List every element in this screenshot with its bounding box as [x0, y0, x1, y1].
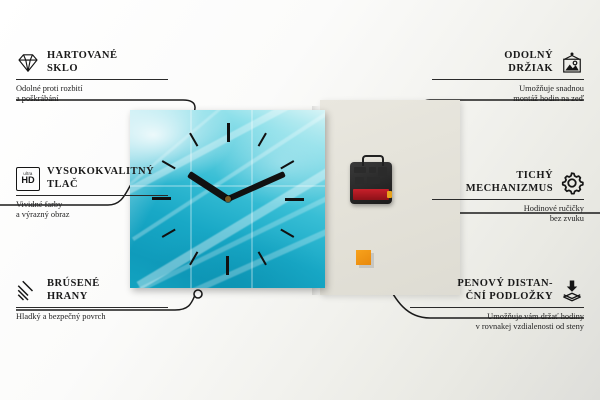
feature-silent-mechanism: TICHÝ MECHANIZMUS Hodinové ručičky bez z…: [432, 170, 584, 225]
clock-tick: [227, 123, 229, 199]
feature-foam-spacers: PENOVÝ DISTAN- ČNÍ PODLOŽKY Umožňuje vám…: [410, 278, 584, 333]
clock-tick: [227, 199, 229, 275]
mechanism-detail: [354, 167, 366, 173]
feature-description: Umožňuje vám držať hodiny v rovnakej vzd…: [410, 312, 584, 333]
foam-spacer-icon: [560, 279, 584, 303]
mechanism-hanger: [362, 155, 384, 166]
mechanism-detail: [369, 167, 376, 173]
ultra-hd-icon: ultra HD: [16, 167, 40, 191]
ultra-hd-icon-hd: HD: [21, 176, 34, 185]
feature-description: Hodinové ručičky bez zvuku: [432, 204, 584, 225]
feature-title: PENOVÝ DISTAN- ČNÍ PODLOŽKY: [457, 278, 553, 303]
diamond-icon: [16, 51, 40, 75]
feature-title: HARTOVANÉ SKLO: [47, 50, 117, 75]
feature-divider: [410, 307, 584, 308]
clock-center-pin: [225, 196, 231, 202]
feature-title: VYSOKOKVALITNÝ TLAČ: [47, 166, 154, 191]
infographic-canvas: HARTOVANÉ SKLO Odolné proti rozbití a po…: [0, 0, 600, 400]
feature-divider: [16, 307, 168, 308]
feature-durable-mount: ODOLNÝ DRŽIAK Umožňuje snadnou montáž ho…: [432, 50, 584, 105]
foam-spacer-pad: [356, 250, 371, 265]
feature-header: PENOVÝ DISTAN- ČNÍ PODLOŽKY: [410, 278, 584, 303]
clock-tick: [228, 198, 304, 200]
feature-description: Odolné proti rozbití a poškrábání: [16, 84, 168, 105]
feature-header: ultra HD VYSOKOKVALITNÝ TLAČ: [16, 166, 168, 191]
feature-description: Umožňuje snadnou montáž hodin na zeď: [432, 84, 584, 105]
mechanism-detail: [367, 177, 380, 184]
feature-divider: [16, 79, 168, 80]
mechanism-detail: [378, 167, 387, 176]
feature-divider: [432, 79, 584, 80]
feature-header: ODOLNÝ DRŽIAK: [432, 50, 584, 75]
battery-terminal: [387, 191, 392, 198]
ground-edges-icon: [16, 279, 40, 303]
feature-description: Vividné farby a výrazný obraz: [16, 200, 168, 221]
feature-title: TICHÝ MECHANIZMUS: [466, 170, 553, 195]
feature-tempered-glass: HARTOVANÉ SKLO Odolné proti rozbití a po…: [16, 50, 168, 105]
mechanism-detail: [355, 177, 364, 184]
feature-divider: [16, 195, 168, 196]
feature-title: ODOLNÝ DRŽIAK: [504, 50, 553, 75]
feature-header: BRÚSENÉ HRANY: [16, 278, 168, 303]
feature-title: BRÚSENÉ HRANY: [47, 278, 100, 303]
clock-mechanism: [350, 162, 392, 204]
gear-icon: [560, 171, 584, 195]
feature-high-quality-print: ultra HD VYSOKOKVALITNÝ TLAČ Vividné far…: [16, 166, 168, 221]
product-photo: [130, 100, 460, 295]
mechanism-battery: [353, 189, 389, 200]
feature-header: HARTOVANÉ SKLO: [16, 50, 168, 75]
feature-divider: [432, 199, 584, 200]
feature-description: Hladký a bezpečný povrch: [16, 312, 168, 322]
feature-ground-edges: BRÚSENÉ HRANY Hladký a bezpečný povrch: [16, 278, 168, 322]
wall-mount-frame-icon: [560, 51, 584, 75]
feature-header: TICHÝ MECHANIZMUS: [432, 170, 584, 195]
